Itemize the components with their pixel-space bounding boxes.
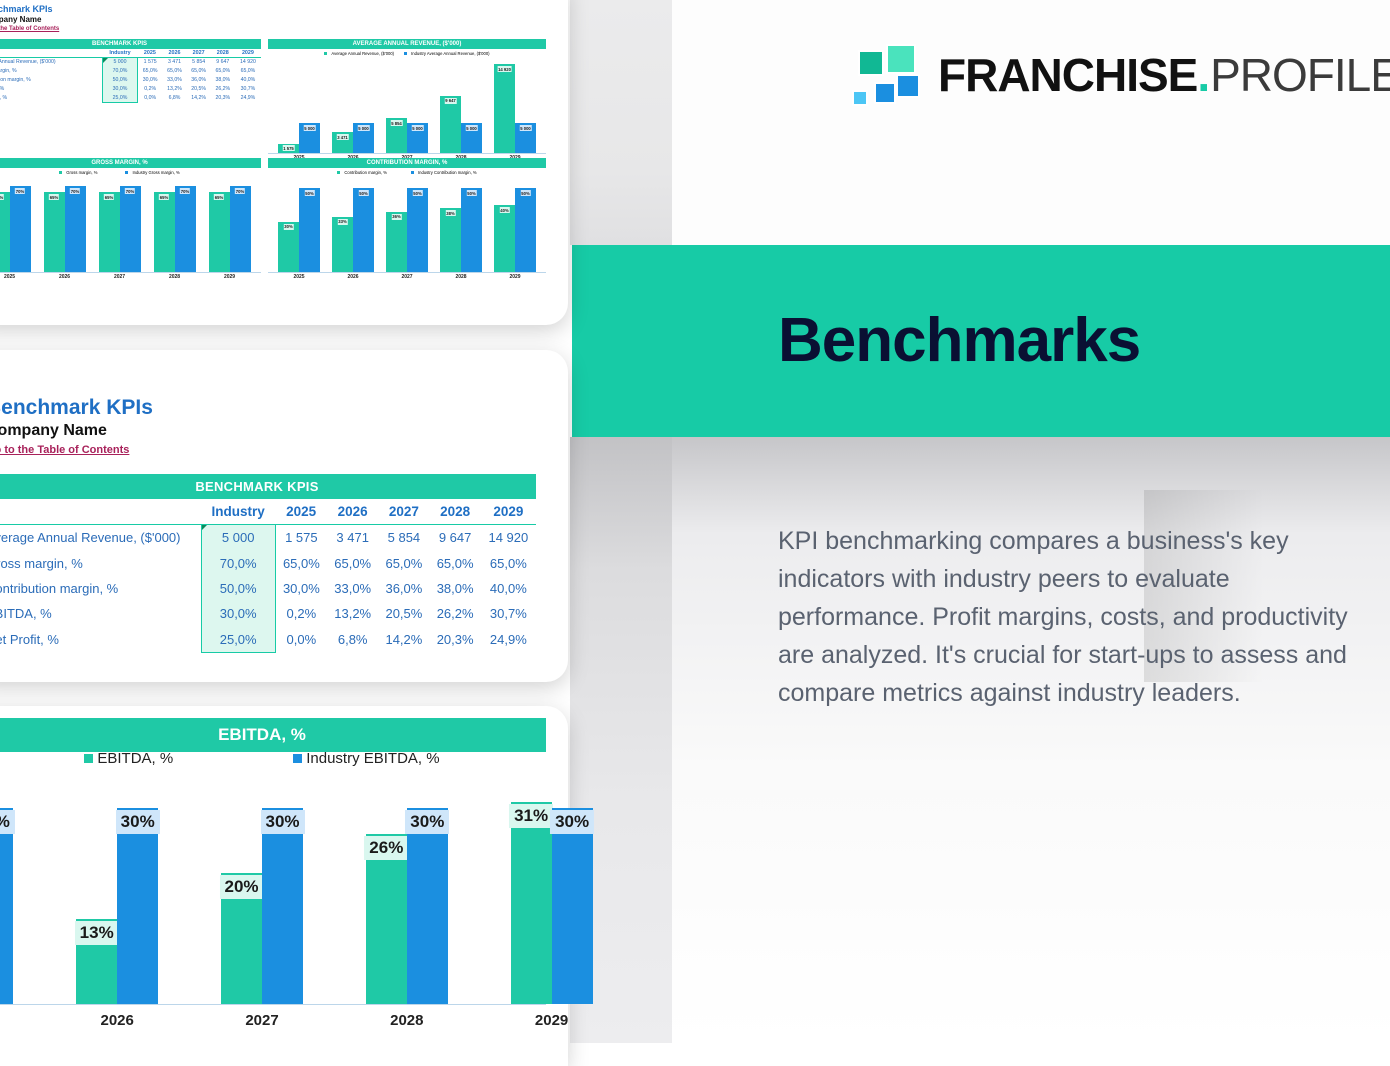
kpi-year-value: 6,8% xyxy=(162,93,186,102)
chart-data-label: 30% xyxy=(550,810,594,834)
chart-bar xyxy=(440,208,461,272)
kpi-year-value: 13,2% xyxy=(162,84,186,93)
chart-data-label: 70% xyxy=(180,188,190,194)
legend-item: Average Annual Revenue, ($'000) xyxy=(324,51,394,56)
chart-data-label: 50% xyxy=(304,190,314,196)
kpi-year-value: 65,0% xyxy=(378,550,429,575)
legend-item: Industry EBITDA, % xyxy=(293,750,439,767)
chart-data-label: 30% xyxy=(116,810,160,834)
kpi-year-value: 9 647 xyxy=(430,525,481,551)
chart-data-label: 50% xyxy=(412,190,422,196)
background-white-panel xyxy=(672,0,1390,245)
chart-data-label: 5 000 xyxy=(411,125,423,131)
kpi-industry-value: 25,0% xyxy=(103,93,138,102)
chart-bar xyxy=(353,188,374,272)
logo-square-blue-mid xyxy=(874,82,896,104)
chart-data-label: 5 000 xyxy=(303,125,315,131)
kpi-industry-value: 25,0% xyxy=(201,627,275,653)
chart-data-label: 38% xyxy=(445,210,455,216)
kpi-industry-value: 50,0% xyxy=(201,576,275,601)
kpi-row-label: Gross margin, % xyxy=(0,550,201,575)
kpi-year-value: 40,0% xyxy=(481,576,536,601)
kpi-year-value: 30,0% xyxy=(137,76,162,85)
kpi-year-value: 65,0% xyxy=(137,67,162,76)
mini-chart-contribution-margin: CONTRIBUTION MARGIN, %Contribution margi… xyxy=(268,158,546,293)
chart-data-label: 14 920 xyxy=(497,66,512,72)
chart-x-label: 2027 xyxy=(401,274,412,280)
kpi-year-value: 20,5% xyxy=(187,84,211,93)
chart-data-label: 30% xyxy=(0,810,15,834)
legend-item: Contribution margin, % xyxy=(337,170,387,175)
chart-bar xyxy=(44,192,65,272)
legend-item: Industry Average Annual Revenue, ($'000) xyxy=(404,51,489,56)
kpi-year-value: 20,3% xyxy=(211,93,235,102)
mini-chart-gross-margin: GROSS MARGIN, %Gross margin, %Industry G… xyxy=(0,158,261,293)
kpi-table-body: Industry20252026202720282029Average Annu… xyxy=(0,499,536,652)
kpi-year-value: 1 575 xyxy=(275,525,327,551)
chart-data-label: 13% xyxy=(75,921,119,945)
kpi-year-value: 65,0% xyxy=(481,550,536,575)
chart-legend: Average Annual Revenue, ($'000)Industry … xyxy=(268,51,546,56)
description-paragraph: KPI benchmarking compares a business's k… xyxy=(778,522,1358,712)
chart-bar xyxy=(120,186,141,272)
kpi-year-value: 0,0% xyxy=(137,93,162,102)
franchise-profiles-logo: FRANCHISE.PROFILES xyxy=(852,44,1390,106)
chart-title: CONTRIBUTION MARGIN, % xyxy=(268,158,546,168)
chart-bar xyxy=(494,64,515,153)
chart-data-label: 9 647 xyxy=(444,98,456,104)
chart-data-label: 40% xyxy=(499,207,509,213)
chart-x-label: 2028 xyxy=(455,274,466,280)
kpi-year-value: 3 471 xyxy=(162,58,186,67)
table-row: Gross margin, %70,0%65,0%65,0%65,0%65,0%… xyxy=(0,67,261,76)
chart-data-label: 30% xyxy=(260,810,304,834)
chart-x-label: 2026 xyxy=(101,1012,134,1029)
kpi-industry-value: 5 000 xyxy=(103,58,138,67)
chart-x-label: 2025 xyxy=(293,274,304,280)
kpi-industry-value: 5 000 xyxy=(201,525,275,551)
chart-x-axis xyxy=(0,1004,546,1005)
chart-data-label: 5 000 xyxy=(519,125,531,131)
chart-x-label: 2028 xyxy=(390,1012,423,1029)
chart-data-label: 70% xyxy=(125,188,135,194)
legend-swatch-icon xyxy=(293,754,302,763)
chart-data-label: 65% xyxy=(104,194,114,200)
legend-swatch-icon xyxy=(59,171,62,174)
kpi-row-label: Gross margin, % xyxy=(0,67,103,76)
mini-toc-link[interactable]: Go to the Table of Contents xyxy=(0,26,59,32)
chart-bar xyxy=(117,808,158,1004)
table-row: Contribution margin, %50,0%30,0%33,0%36,… xyxy=(0,76,261,85)
chart-x-label: 2029 xyxy=(509,274,520,280)
kpi-table-title: BENCHMARK KPIS xyxy=(0,474,536,499)
table-row: Gross margin, %70,0%65,0%65,0%65,0%65,0%… xyxy=(0,550,536,575)
table-row: Contribution margin, %50,0%30,0%33,0%36,… xyxy=(0,576,536,601)
toc-link[interactable]: Go to the Table of Contents xyxy=(0,444,129,456)
sheet-subtitle: Company Name xyxy=(0,422,107,440)
mini-kpi-table: Industry20252026202720282029Average Annu… xyxy=(0,49,261,103)
kpi-col-header: 2028 xyxy=(211,49,235,58)
chart-bar xyxy=(209,192,230,272)
kpi-year-value: 14 920 xyxy=(481,525,536,551)
ebitda-chart: EBITDA, %EBITDA, %Industry EBITDA, %0%30… xyxy=(0,706,546,1066)
kpi-year-value: 3 471 xyxy=(327,525,378,551)
legend-label: Industry Contribution margin, % xyxy=(418,170,477,175)
kpi-year-value: 30,7% xyxy=(235,84,261,93)
logo-square-blue-small xyxy=(852,90,868,106)
kpi-year-value: 0,2% xyxy=(137,84,162,93)
mini-kpi-table-body: Industry20252026202720282029Average Annu… xyxy=(0,49,261,102)
kpi-year-value: 24,9% xyxy=(481,627,536,653)
chart-data-label: 5 854 xyxy=(390,120,402,126)
chart-bar xyxy=(0,808,13,1004)
legend-item: Industry Gross margin, % xyxy=(125,170,179,175)
table-row: Net Profit, %25,0%0,0%6,8%14,2%20,3%24,9… xyxy=(0,627,536,653)
chart-data-label: 65% xyxy=(0,194,4,200)
kpi-year-value: 65,0% xyxy=(430,550,481,575)
chart-legend: Gross margin, %Industry Gross margin, % xyxy=(0,170,261,175)
logo-squares-icon xyxy=(852,44,924,106)
logo-text-franchise: FRANCHISE xyxy=(938,49,1197,101)
chart-x-label: 2027 xyxy=(114,274,125,280)
kpi-row-label: EBITDA, % xyxy=(0,84,103,93)
legend-swatch-icon xyxy=(125,171,128,174)
mini-sheet-subtitle: Company Name xyxy=(0,15,41,24)
kpi-industry-value: 50,0% xyxy=(103,76,138,85)
chart-data-label: 26% xyxy=(364,836,408,860)
legend-swatch-icon xyxy=(337,171,340,174)
kpi-year-value: 65,0% xyxy=(162,67,186,76)
kpi-year-value: 38,0% xyxy=(211,76,235,85)
kpi-year-value: 5 854 xyxy=(378,525,429,551)
chart-data-label: 30% xyxy=(405,810,449,834)
chart-legend: EBITDA, %Industry EBITDA, % xyxy=(0,750,546,767)
logo-square-blue-large xyxy=(896,74,920,98)
logo-text-profiles: PROFILES xyxy=(1210,49,1390,101)
legend-label: Industry EBITDA, % xyxy=(306,750,439,767)
chart-bar xyxy=(299,188,320,272)
mini-chart-revenue: AVERAGE ANNUAL REVENUE, ($'000)Average A… xyxy=(268,39,546,174)
kpi-year-value: 0,2% xyxy=(275,601,327,626)
legend-label: Contribution margin, % xyxy=(344,170,387,175)
kpi-year-value: 20,5% xyxy=(378,601,429,626)
chart-title: GROSS MARGIN, % xyxy=(0,158,261,168)
chart-data-label: 5 000 xyxy=(465,125,477,131)
kpi-year-value: 24,9% xyxy=(235,93,261,102)
mini-sheet-title: Benchmark KPIs xyxy=(0,4,53,14)
kpi-header-row: Industry20252026202720282029 xyxy=(0,499,536,525)
kpi-col-header: 2029 xyxy=(481,499,536,525)
kpi-industry-value: 70,0% xyxy=(201,550,275,575)
kpi-year-value: 26,2% xyxy=(211,84,235,93)
chart-bar xyxy=(494,205,515,272)
kpi-header-row: Industry20252026202720282029 xyxy=(0,49,261,58)
kpi-col-header: 2027 xyxy=(378,499,429,525)
legend-swatch-icon xyxy=(84,754,93,763)
chart-data-label: 50% xyxy=(466,190,476,196)
kpi-row-label: Contribution margin, % xyxy=(0,76,103,85)
chart-bar xyxy=(10,186,31,272)
chart-data-label: 70% xyxy=(235,188,245,194)
logo-square-teal-dark xyxy=(858,50,884,76)
chart-data-label: 5 000 xyxy=(357,125,369,131)
chart-data-label: 65% xyxy=(214,194,224,200)
mini-table-title: BENCHMARK KPIS xyxy=(0,39,261,49)
chart-bar xyxy=(332,217,353,272)
kpi-row-label: Net Profit, % xyxy=(0,93,103,102)
kpi-col-header: Industry xyxy=(103,49,138,58)
legend-label: Industry Average Annual Revenue, ($'000) xyxy=(411,51,489,56)
chart-plot-area: 65%70%65%70%65%70%65%70%65%70% xyxy=(0,180,261,272)
kpi-year-value: 30,7% xyxy=(481,601,536,626)
chart-x-label: 2026 xyxy=(59,274,70,280)
legend-swatch-icon xyxy=(404,52,407,55)
kpi-col-header: 2025 xyxy=(275,499,327,525)
chart-bar xyxy=(407,188,428,272)
kpi-col-header: 2026 xyxy=(327,499,378,525)
kpi-year-value: 33,0% xyxy=(162,76,186,85)
kpi-row-label: Average Annual Revenue, ($'000) xyxy=(0,525,201,551)
kpi-year-value: 38,0% xyxy=(430,576,481,601)
table-row: Net Profit, %25,0%0,0%6,8%14,2%20,3%24,9… xyxy=(0,93,261,102)
chart-bar xyxy=(175,186,196,272)
chart-title: EBITDA, % xyxy=(0,718,546,752)
kpi-row-label: Contribution margin, % xyxy=(0,576,201,601)
legend-label: Industry Gross margin, % xyxy=(132,170,179,175)
chart-data-label: 31% xyxy=(509,804,553,828)
chart-bar xyxy=(386,212,407,272)
chart-data-label: 1 575 xyxy=(282,145,294,151)
kpi-col-header: Industry xyxy=(201,499,275,525)
chart-bar xyxy=(552,808,593,1004)
kpi-year-value: 40,0% xyxy=(235,76,261,85)
kpi-year-value: 65,0% xyxy=(211,67,235,76)
kpi-year-value: 20,3% xyxy=(430,627,481,653)
kpi-col-header: 2027 xyxy=(187,49,211,58)
chart-bar xyxy=(511,802,552,1004)
mini-dashboard: Benchmark KPIs Company Name Go to the Ta… xyxy=(0,0,546,311)
logo-wordmark: FRANCHISE.PROFILES xyxy=(938,52,1390,98)
chart-data-label: 30% xyxy=(283,224,293,230)
kpi-year-value: 0,0% xyxy=(275,627,327,653)
kpi-year-value: 36,0% xyxy=(378,576,429,601)
legend-swatch-icon xyxy=(411,171,414,174)
table-row: EBITDA, %30,0%0,2%13,2%20,5%26,2%30,7% xyxy=(0,84,261,93)
kpi-table-wrap: BENCHMARK KPIS Industry20252026202720282… xyxy=(0,474,536,653)
table-row: Average Annual Revenue, ($'000)5 0001 57… xyxy=(0,525,536,551)
kpi-row-label: Average Annual Revenue, ($'000) xyxy=(0,58,103,67)
page-title: Benchmarks xyxy=(778,305,1140,376)
screenshot-card-ebitda-chart: EBITDA, %EBITDA, %Industry EBITDA, %0%30… xyxy=(0,706,568,1066)
chart-x-label: 2029 xyxy=(224,274,235,280)
kpi-year-value: 65,0% xyxy=(327,550,378,575)
logo-square-teal-light xyxy=(886,44,916,74)
kpi-year-value: 14,2% xyxy=(187,93,211,102)
chart-bar xyxy=(262,808,303,1004)
kpi-year-value: 30,0% xyxy=(275,576,327,601)
screenshot-card-kpi-table: Benchmark KPIs Company Name Go to the Ta… xyxy=(0,350,568,682)
chart-bar xyxy=(461,188,482,272)
kpi-col-header: 2028 xyxy=(430,499,481,525)
kpi-year-value: 33,0% xyxy=(327,576,378,601)
chart-x-axis xyxy=(0,272,261,273)
chart-plot-area: 1 5755 0003 4715 0005 8545 0009 6475 000… xyxy=(268,61,546,153)
legend-item: EBITDA, % xyxy=(84,750,173,767)
kpi-year-value: 1 575 xyxy=(137,58,162,67)
chart-x-label: 2025 xyxy=(4,274,15,280)
kpi-year-value: 65,0% xyxy=(187,67,211,76)
sheet-title: Benchmark KPIs xyxy=(0,396,153,420)
comment-marker-icon xyxy=(202,525,207,530)
kpi-industry-value: 70,0% xyxy=(103,67,138,76)
chart-plot-area: 30%50%33%50%36%50%38%50%40%50% xyxy=(268,180,546,272)
kpi-year-value: 65,0% xyxy=(275,550,327,575)
kpi-year-value: 36,0% xyxy=(187,76,211,85)
chart-data-label: 65% xyxy=(159,194,169,200)
kpi-table: Industry20252026202720282029Average Annu… xyxy=(0,499,536,653)
chart-bar xyxy=(407,808,448,1004)
chart-x-label: 2029 xyxy=(535,1012,568,1029)
chart-bar xyxy=(99,192,120,272)
chart-x-label: 2028 xyxy=(169,274,180,280)
mini-kpi-table-wrap: BENCHMARK KPIS Industry20252026202720282… xyxy=(0,39,261,103)
chart-bar xyxy=(65,186,86,272)
kpi-row-label: Net Profit, % xyxy=(0,627,201,653)
chart-data-label: 50% xyxy=(520,190,530,196)
chart-x-label: 2027 xyxy=(245,1012,278,1029)
legend-label: Gross margin, % xyxy=(66,170,97,175)
chart-data-label: 33% xyxy=(337,219,347,225)
legend-label: EBITDA, % xyxy=(97,750,173,767)
chart-plot-area: 0%30%13%30%20%30%26%30%31%30% xyxy=(0,782,546,1004)
chart-data-label: 70% xyxy=(70,188,80,194)
kpi-col-header: 2029 xyxy=(235,49,261,58)
legend-item: Gross margin, % xyxy=(59,170,97,175)
chart-bar xyxy=(440,96,461,153)
chart-bar xyxy=(230,186,251,272)
chart-data-label: 36% xyxy=(391,214,401,220)
kpi-year-value: 14,2% xyxy=(378,627,429,653)
kpi-year-value: 9 647 xyxy=(211,58,235,67)
kpi-row-label: EBITDA, % xyxy=(0,601,201,626)
comment-marker-icon xyxy=(103,58,108,63)
kpi-col-header: 2026 xyxy=(162,49,186,58)
chart-data-label: 20% xyxy=(219,875,263,899)
chart-legend: Contribution margin, %Industry Contribut… xyxy=(268,170,546,175)
chart-data-label: 50% xyxy=(358,190,368,196)
chart-title: AVERAGE ANNUAL REVENUE, ($'000) xyxy=(268,39,546,49)
kpi-year-value: 26,2% xyxy=(430,601,481,626)
chart-data-label: 3 471 xyxy=(336,134,348,140)
screenshot-card-dashboard: Benchmark KPIs Company Name Go to the Ta… xyxy=(0,0,568,325)
logo-text-dot: . xyxy=(1197,49,1210,101)
kpi-col-header xyxy=(0,49,103,58)
chart-bar xyxy=(515,188,536,272)
table-row: Average Annual Revenue, ($'000)5 0001 57… xyxy=(0,58,261,67)
chart-data-label: 70% xyxy=(15,188,25,194)
kpi-industry-value: 30,0% xyxy=(103,84,138,93)
chart-data-label: 65% xyxy=(49,194,59,200)
kpi-year-value: 65,0% xyxy=(235,67,261,76)
kpi-year-value: 5 854 xyxy=(187,58,211,67)
kpi-col-header xyxy=(0,499,201,525)
chart-x-axis xyxy=(268,272,546,273)
chart-x-axis xyxy=(268,153,546,154)
kpi-sheet: Benchmark KPIs Company Name Go to the Ta… xyxy=(0,350,546,682)
legend-swatch-icon xyxy=(324,52,327,55)
table-row: EBITDA, %30,0%0,2%13,2%20,5%26,2%30,7% xyxy=(0,601,536,626)
kpi-year-value: 14 920 xyxy=(235,58,261,67)
kpi-col-header: 2025 xyxy=(137,49,162,58)
chart-bar xyxy=(154,192,175,272)
kpi-year-value: 6,8% xyxy=(327,627,378,653)
legend-item: Industry Contribution margin, % xyxy=(411,170,477,175)
legend-label: Average Annual Revenue, ($'000) xyxy=(331,51,394,56)
chart-x-label: 2026 xyxy=(347,274,358,280)
kpi-industry-value: 30,0% xyxy=(201,601,275,626)
background-gray-column-top xyxy=(570,0,672,245)
chart-bar xyxy=(0,192,10,272)
kpi-year-value: 13,2% xyxy=(327,601,378,626)
